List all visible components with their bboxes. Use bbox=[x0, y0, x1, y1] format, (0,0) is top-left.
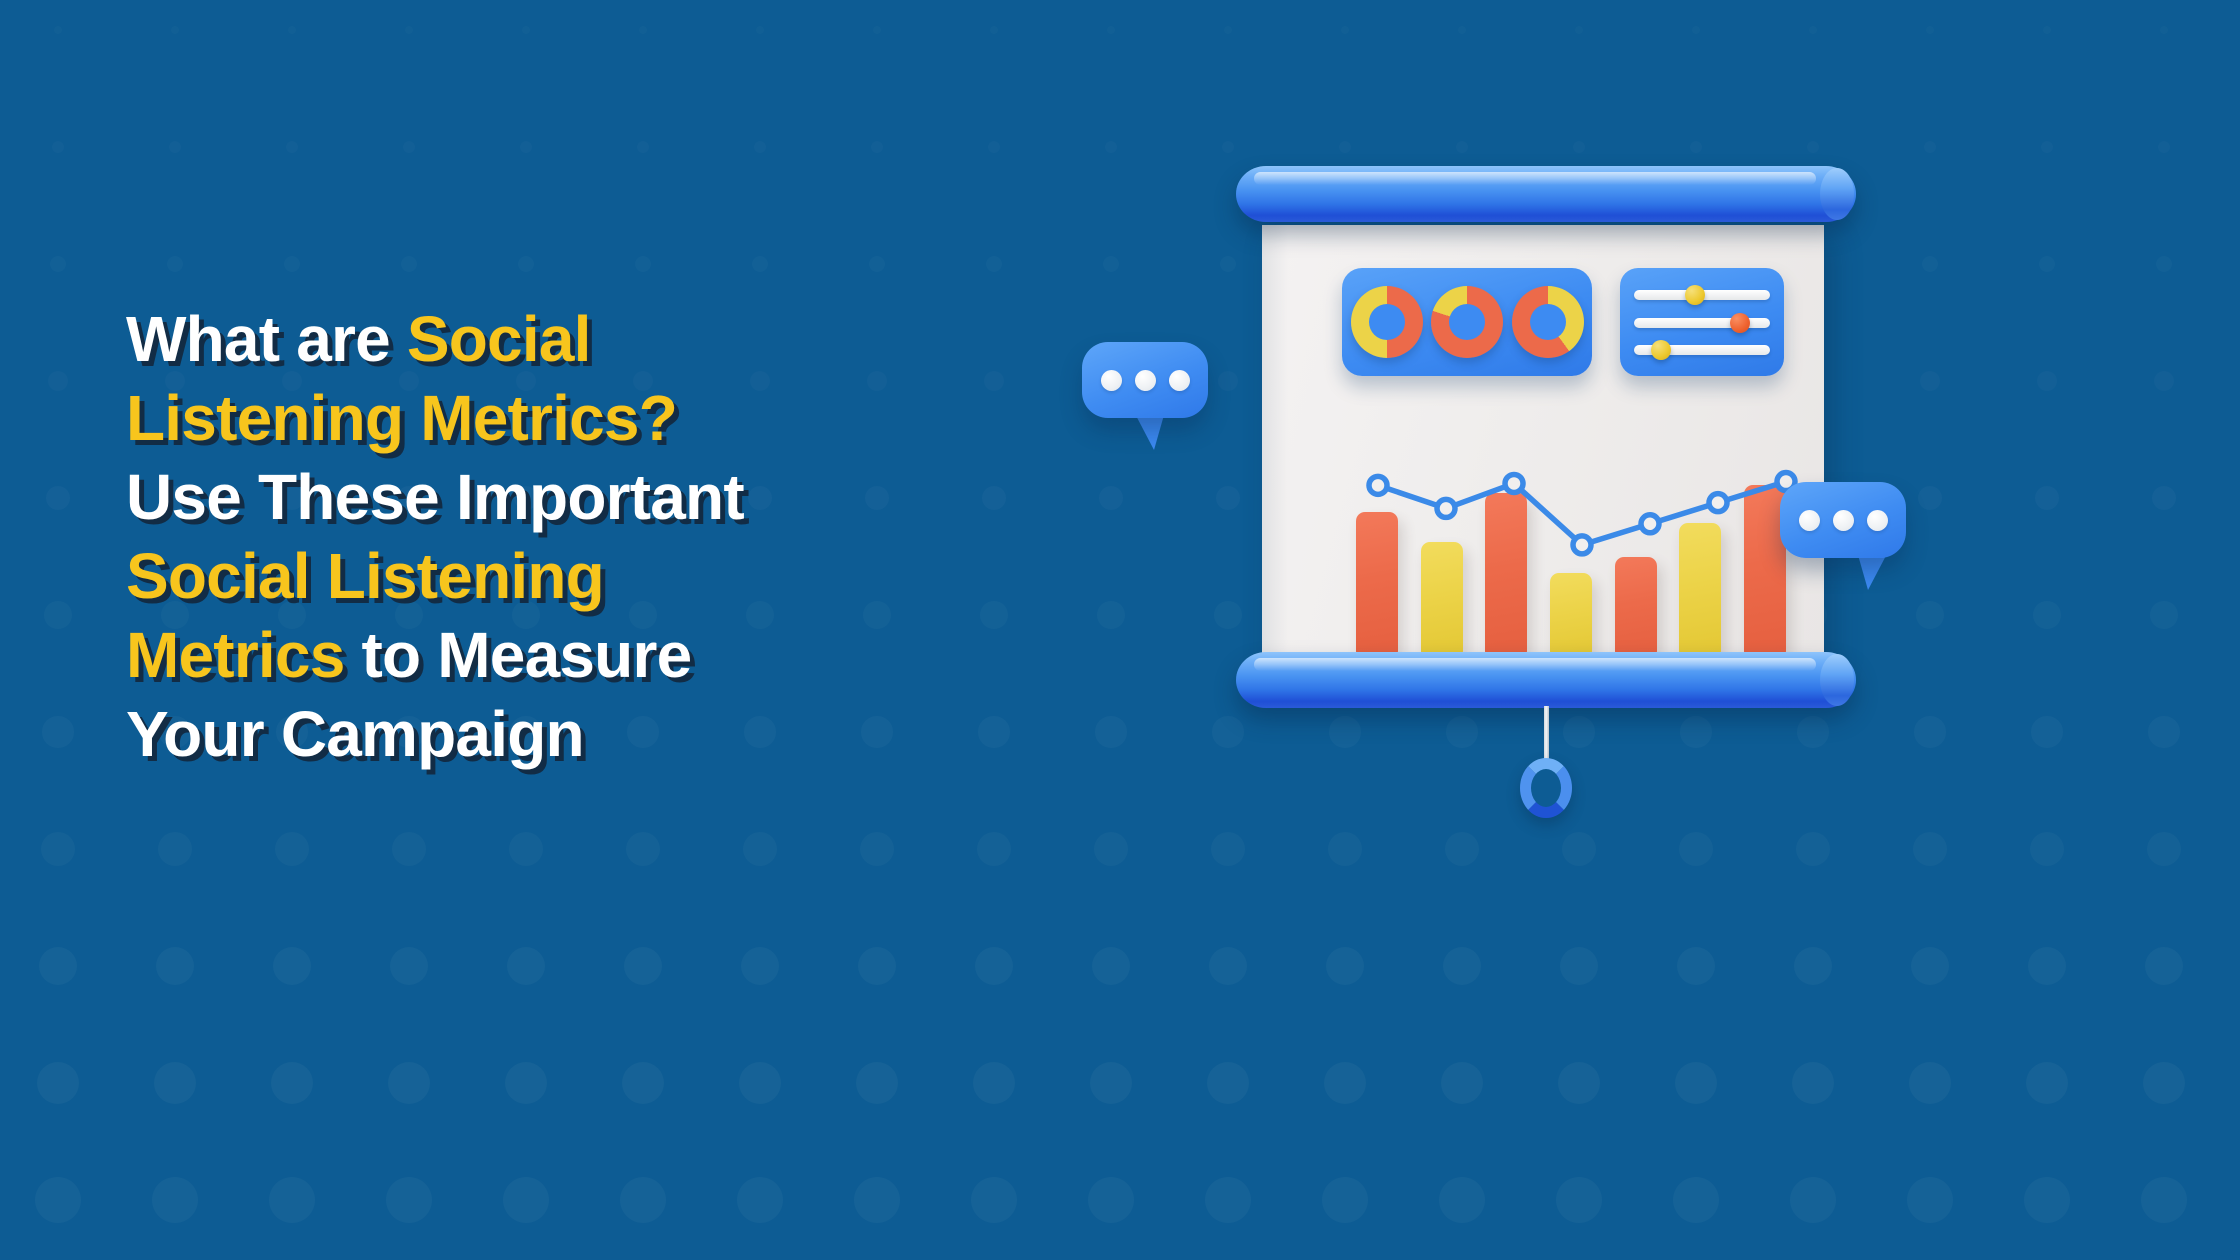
background-dot bbox=[156, 947, 195, 986]
background-dot bbox=[388, 1062, 430, 1104]
ellipsis-dot-icon bbox=[1833, 510, 1854, 531]
background-dot bbox=[1207, 1062, 1249, 1104]
background-dot bbox=[741, 947, 780, 986]
background-dot bbox=[41, 832, 76, 867]
background-dot bbox=[1103, 256, 1119, 272]
roller-bar-bottom bbox=[1236, 652, 1856, 708]
background-dot bbox=[152, 1177, 198, 1223]
pull-ring[interactable] bbox=[1520, 758, 1572, 818]
headline-line-1: What are Social bbox=[126, 300, 1106, 379]
background-dot bbox=[46, 486, 70, 510]
background-dot bbox=[1790, 1177, 1836, 1223]
background-dot bbox=[518, 256, 534, 272]
headline-seg: Social bbox=[407, 303, 591, 375]
background-dot bbox=[1809, 26, 1818, 35]
background-dot bbox=[2141, 1177, 2187, 1223]
presentation-board-illustration bbox=[1120, 150, 2130, 750]
background-dot bbox=[1575, 26, 1584, 35]
background-dot bbox=[2024, 1177, 2070, 1223]
background-dot bbox=[275, 832, 310, 867]
background-dot bbox=[1322, 1177, 1368, 1223]
background-dot bbox=[1794, 947, 1833, 986]
background-dot bbox=[1445, 832, 1480, 867]
background-dot bbox=[1088, 1177, 1134, 1223]
background-dot bbox=[743, 832, 778, 867]
background-dot bbox=[620, 1177, 666, 1223]
background-dot bbox=[739, 1062, 781, 1104]
donut-chart-3 bbox=[1512, 286, 1584, 358]
background-dot bbox=[1562, 832, 1597, 867]
headline-line-5: Metrics to Measure bbox=[126, 616, 1106, 695]
background-dot bbox=[405, 26, 414, 35]
background-dot bbox=[1224, 26, 1233, 35]
background-dot bbox=[2026, 1062, 2068, 1104]
background-dot bbox=[1341, 26, 1350, 35]
background-dot bbox=[507, 947, 546, 986]
background-dot bbox=[54, 26, 63, 35]
background-dot bbox=[2156, 256, 2172, 272]
donut-chart-2 bbox=[1431, 286, 1503, 358]
slider-knob-1[interactable] bbox=[1685, 285, 1705, 305]
background-dot bbox=[1205, 1177, 1251, 1223]
background-dot bbox=[1211, 832, 1246, 867]
background-dot bbox=[522, 26, 531, 35]
background-dot bbox=[520, 141, 533, 154]
line-chart-marker bbox=[1369, 476, 1387, 494]
background-dot bbox=[2043, 26, 2052, 35]
background-dot bbox=[271, 1062, 313, 1104]
background-dot bbox=[1107, 26, 1116, 35]
background-dot bbox=[269, 1177, 315, 1223]
background-dot bbox=[624, 947, 663, 986]
background-dot bbox=[503, 1177, 549, 1223]
background-dot bbox=[286, 141, 299, 154]
background-dot bbox=[2158, 141, 2171, 154]
background-dot bbox=[990, 26, 999, 35]
ellipsis-dot-icon bbox=[1135, 370, 1156, 391]
headline-seg: Listening Metrics? bbox=[126, 382, 677, 454]
background-dot bbox=[171, 26, 180, 35]
background-dot bbox=[1209, 947, 1248, 986]
background-dot bbox=[505, 1062, 547, 1104]
ellipsis-dot-icon bbox=[1867, 510, 1888, 531]
background-dot bbox=[167, 256, 183, 272]
background-dot bbox=[626, 832, 661, 867]
slider-row-2[interactable] bbox=[1634, 316, 1770, 329]
background-dot bbox=[1092, 947, 1131, 986]
slider-knob-3[interactable] bbox=[1651, 340, 1671, 360]
donut-chart-card bbox=[1342, 268, 1592, 376]
background-dot bbox=[1556, 1177, 1602, 1223]
background-dot bbox=[509, 832, 544, 867]
background-dot bbox=[2154, 371, 2174, 391]
background-dot bbox=[1913, 832, 1948, 867]
background-dot bbox=[169, 141, 182, 154]
background-dot bbox=[1094, 832, 1129, 867]
line-chart bbox=[1356, 450, 1808, 580]
headline-line-4: Social Listening bbox=[126, 537, 1106, 616]
background-dot bbox=[1677, 947, 1716, 986]
background-dot bbox=[637, 141, 650, 154]
page-title: What are Social Listening Metrics? Use T… bbox=[126, 300, 1106, 774]
background-dot bbox=[1443, 947, 1482, 986]
ellipsis-dot-icon bbox=[1799, 510, 1820, 531]
background-dot bbox=[1326, 947, 1365, 986]
background-dot bbox=[756, 26, 765, 35]
headline-line-2: Listening Metrics? bbox=[126, 379, 1106, 458]
background-dot bbox=[639, 26, 648, 35]
background-dot bbox=[1458, 26, 1467, 35]
background-dot bbox=[1673, 1177, 1719, 1223]
background-dot bbox=[42, 716, 73, 747]
background-dot bbox=[858, 947, 897, 986]
headline-seg: Your Campaign bbox=[126, 698, 584, 770]
background-dot bbox=[988, 141, 1001, 154]
background-dot bbox=[1907, 1177, 1953, 1223]
background-dot bbox=[2147, 832, 2182, 867]
background-dot bbox=[1439, 1177, 1485, 1223]
donut-chart-group bbox=[1342, 268, 1592, 376]
ellipsis-dot-icon bbox=[1169, 370, 1190, 391]
line-chart-marker bbox=[1573, 536, 1591, 554]
background-dot bbox=[37, 1062, 79, 1104]
background-dot bbox=[1105, 141, 1118, 154]
background-dot bbox=[154, 1062, 196, 1104]
slider-row-3[interactable] bbox=[1634, 343, 1770, 356]
background-dot bbox=[273, 947, 312, 986]
background-dot bbox=[752, 256, 768, 272]
background-dot bbox=[971, 1177, 1017, 1223]
background-dot bbox=[52, 141, 65, 154]
headline-seg: Use These Important bbox=[126, 461, 744, 533]
line-chart-marker bbox=[1641, 515, 1659, 533]
background-dot bbox=[2143, 1062, 2185, 1104]
background-dot bbox=[158, 832, 193, 867]
background-dot bbox=[986, 256, 1002, 272]
slider-row-1[interactable] bbox=[1634, 288, 1770, 301]
background-dot bbox=[975, 947, 1014, 986]
slider-knob-2[interactable] bbox=[1730, 313, 1750, 333]
background-dot bbox=[2150, 601, 2178, 629]
background-dot bbox=[873, 26, 882, 35]
roller-bar-top bbox=[1236, 166, 1856, 222]
background-dot bbox=[1692, 26, 1701, 35]
banner-canvas: What are Social Listening Metrics? Use T… bbox=[0, 0, 2240, 1260]
background-dot bbox=[869, 256, 885, 272]
line-chart-marker bbox=[1505, 474, 1523, 492]
slider-panel-card bbox=[1620, 268, 1784, 376]
bar-chart-bar bbox=[1550, 573, 1592, 660]
background-dot bbox=[754, 141, 767, 154]
background-dot bbox=[2148, 716, 2179, 747]
chat-bubble-right bbox=[1780, 482, 1906, 558]
background-dot bbox=[1560, 947, 1599, 986]
headline-line-3: Use These Important bbox=[126, 458, 1106, 537]
background-dot bbox=[1911, 947, 1950, 986]
background-dot bbox=[284, 256, 300, 272]
pull-cord bbox=[1544, 706, 1549, 764]
background-dot bbox=[1909, 1062, 1951, 1104]
headline-line-6: Your Campaign bbox=[126, 695, 1106, 774]
background-dot bbox=[1796, 832, 1831, 867]
background-dot bbox=[39, 947, 78, 986]
background-dot bbox=[403, 141, 416, 154]
line-chart-marker bbox=[1437, 499, 1455, 517]
background-dot bbox=[1328, 832, 1363, 867]
donut-chart-1 bbox=[1351, 286, 1423, 358]
background-dot bbox=[35, 1177, 81, 1223]
background-dot bbox=[390, 947, 429, 986]
background-dot bbox=[2028, 947, 2067, 986]
background-dot bbox=[386, 1177, 432, 1223]
line-chart-marker bbox=[1709, 494, 1727, 512]
background-dot bbox=[856, 1062, 898, 1104]
background-dot bbox=[1792, 1062, 1834, 1104]
background-dot bbox=[1441, 1062, 1483, 1104]
background-dot bbox=[854, 1177, 900, 1223]
headline-seg: to Measure bbox=[361, 619, 691, 691]
background-dot bbox=[44, 601, 72, 629]
background-dot bbox=[635, 256, 651, 272]
background-dot bbox=[622, 1062, 664, 1104]
background-dot bbox=[973, 1062, 1015, 1104]
background-dot bbox=[50, 256, 66, 272]
background-dot bbox=[737, 1177, 783, 1223]
background-dot bbox=[2145, 947, 2184, 986]
background-dot bbox=[1679, 832, 1714, 867]
background-dot bbox=[1324, 1062, 1366, 1104]
background-dot bbox=[401, 256, 417, 272]
background-dot bbox=[2160, 26, 2169, 35]
background-dot bbox=[2152, 486, 2176, 510]
background-dot bbox=[977, 832, 1012, 867]
headline-seg: Metrics bbox=[126, 619, 361, 691]
background-dot bbox=[1558, 1062, 1600, 1104]
background-dot bbox=[1675, 1062, 1717, 1104]
background-dot bbox=[2030, 832, 2065, 867]
background-dot bbox=[48, 371, 68, 391]
headline-seg: What are bbox=[126, 303, 407, 375]
background-dot bbox=[392, 832, 427, 867]
background-dot bbox=[288, 26, 297, 35]
background-dot bbox=[871, 141, 884, 154]
background-dot bbox=[860, 832, 895, 867]
background-dot bbox=[1090, 1062, 1132, 1104]
background-dot bbox=[1926, 26, 1935, 35]
headline-seg: Social Listening bbox=[126, 540, 604, 612]
